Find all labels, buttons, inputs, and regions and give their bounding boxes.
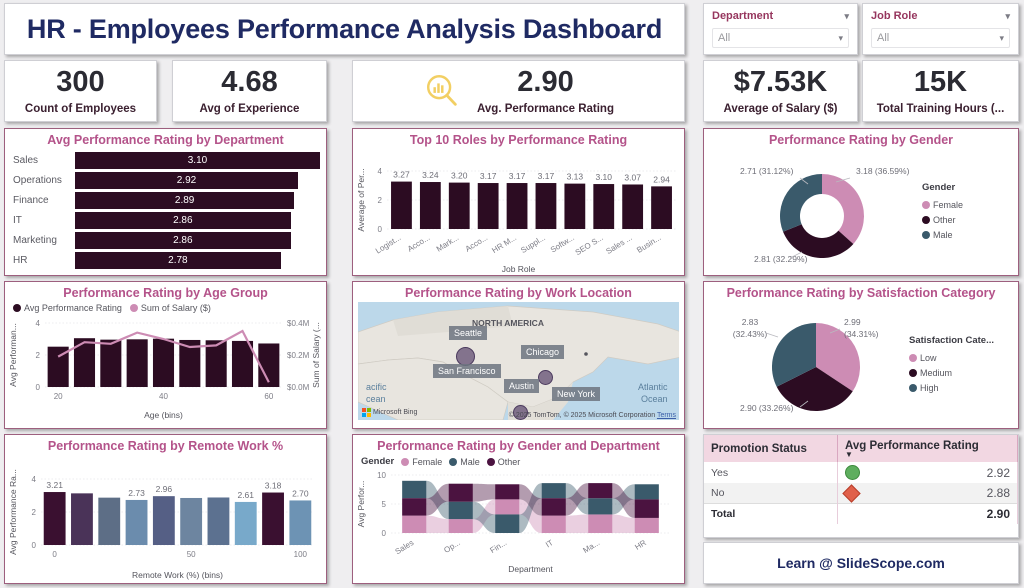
table-header-row: Promotion Status Avg Performance Rating …	[704, 435, 1018, 462]
legend-label: Medium	[920, 368, 952, 378]
remote-bar[interactable]	[153, 496, 175, 545]
role-bar[interactable]	[593, 184, 614, 229]
legend-item-male[interactable]: Male	[449, 457, 480, 467]
legend-label: Male	[460, 457, 480, 467]
slicer-job-role[interactable]: Job Role ▾ All ▾	[862, 3, 1019, 55]
donut-slice-male[interactable]	[780, 174, 822, 232]
y2-tick-label: $0.4M	[287, 319, 310, 328]
legend-label: Other	[933, 215, 956, 225]
legend-swatch-icon	[922, 216, 930, 224]
x-tick-label: HR M...	[490, 233, 518, 255]
remote-bar[interactable]	[98, 498, 120, 545]
cell-promotion-status: Yes	[704, 462, 837, 483]
bar-value-label: 2.61	[237, 490, 254, 500]
legend-title: Gender	[361, 456, 394, 467]
x-tick-label: Sales ...	[604, 233, 633, 256]
ribbon-segment[interactable]	[588, 483, 612, 498]
ribbon-chart: 0510SalesOp...Fin...ITMa...HRDepartmentA…	[353, 467, 684, 575]
kpi-value: $7.53K	[734, 67, 828, 97]
ribbon-segment[interactable]	[402, 481, 426, 498]
footer-banner[interactable]: Learn @ SlideScope.com	[703, 542, 1019, 584]
y-tick-label: 0	[36, 383, 41, 392]
chevron-down-icon[interactable]: ▾	[844, 11, 849, 22]
map-ocean-label-atlantic: Atlantic	[638, 382, 668, 392]
department-bar[interactable]: 2.92	[75, 172, 298, 189]
bar-value-label: 3.21	[46, 480, 63, 490]
y-axis-title: Avg Perfor...	[356, 481, 366, 528]
x-tick-label: IT	[544, 538, 555, 549]
ribbon-band	[473, 484, 495, 502]
remote-bar[interactable]	[71, 493, 93, 545]
promotion-status-table: Promotion Status Avg Performance Rating …	[704, 435, 1018, 524]
column-header-text: Avg Performance Rating	[845, 440, 979, 452]
y-tick-label: 4	[36, 319, 41, 328]
remote-bar[interactable]	[235, 502, 257, 545]
y2-tick-label: $0.0M	[287, 383, 310, 392]
ribbon-segment[interactable]	[449, 502, 473, 519]
department-value: 2.86	[173, 215, 192, 226]
chart-title: Performance Rating by Work Location	[353, 282, 684, 302]
chart-avg-performance-by-department[interactable]: Avg Performance Rating by Department Sal…	[4, 128, 327, 276]
role-bar[interactable]	[478, 183, 499, 229]
map-basemap: NORTH AMERICA acific cean Atlantic Ocean	[358, 302, 679, 420]
department-bar-row[interactable]: Finance2.89	[9, 191, 322, 210]
department-bar-row[interactable]: Sales3.10	[9, 151, 322, 170]
y-tick-label: 0	[382, 529, 387, 538]
department-bar[interactable]: 2.78	[75, 252, 281, 269]
bar-value-label: 3.18	[265, 481, 282, 491]
bar-value-label: 2.73	[128, 488, 145, 498]
bar-value-label: 2.70	[292, 488, 309, 498]
x-tick-label: SEO S...	[574, 233, 605, 257]
cell-avg-performance-rating: 2.92	[837, 462, 1017, 483]
chart-title: Performance Rating by Gender and Departm…	[353, 435, 684, 455]
bar-value-label: 3.24	[422, 170, 439, 180]
department-name: IT	[9, 215, 75, 226]
ribbon-segment[interactable]	[588, 514, 612, 533]
kpi-value: 300	[56, 67, 104, 97]
legend-item-female[interactable]: Female	[922, 200, 963, 210]
table-row[interactable]: Yes2.92	[704, 462, 1018, 483]
department-name: Marketing	[9, 235, 75, 246]
legend-item-avg-performance[interactable]: Avg Performance Rating	[13, 303, 122, 313]
ribbon-segment[interactable]	[495, 499, 519, 514]
pie-value-label: 2.90 (33.26%)	[740, 403, 794, 413]
kpi-card-count-employees[interactable]: 300 Count of Employees	[4, 60, 157, 122]
legend-swatch-icon	[449, 458, 457, 466]
bar-value-label: 3.20	[451, 171, 468, 181]
map-attribution: © 2025 TomTom, © 2025 Microsoft Corporat…	[509, 412, 676, 419]
y-tick-label: 5	[382, 500, 387, 509]
kpi-value: 2.90	[517, 67, 573, 97]
x-tick-label: Logist...	[374, 233, 403, 255]
map-terms-link[interactable]: Terms	[657, 412, 676, 419]
role-bar[interactable]	[420, 182, 441, 229]
cell-avg-performance-rating: 2.88	[837, 483, 1017, 504]
chart-title: Performance Rating by Age Group	[5, 282, 326, 302]
map-label-austin[interactable]: Austin	[504, 379, 539, 393]
pie-value-label: 2.83	[742, 317, 759, 327]
department-name: Finance	[9, 195, 75, 206]
y-tick-label: 2	[378, 196, 383, 205]
chart-title: Performance Rating by Satisfaction Categ…	[704, 282, 1018, 302]
circle-green-icon	[845, 465, 860, 480]
pie-value-label: 2.99	[844, 317, 861, 327]
department-bar[interactable]: 2.89	[75, 192, 294, 209]
x-axis-title: Age (bins)	[144, 410, 183, 420]
role-bar[interactable]	[449, 183, 470, 229]
department-name: HR	[9, 255, 75, 266]
slicer-department-label: Department	[712, 10, 773, 22]
legend-swatch-icon	[909, 369, 917, 377]
remote-bar[interactable]	[180, 498, 202, 545]
department-bar-row[interactable]: IT2.86	[9, 211, 322, 230]
legend-item-other[interactable]: Other	[487, 457, 521, 467]
chart-title: Avg Performance Rating by Department	[5, 129, 326, 149]
map-ocean-label-pacific: acific	[366, 382, 387, 392]
ribbon-segment[interactable]	[402, 498, 426, 515]
map-ocean-label-pacific2: cean	[366, 394, 386, 404]
x-tick-label: 60	[264, 392, 273, 401]
remote-bar[interactable]	[126, 500, 148, 545]
bar-value-label: 3.17	[538, 171, 555, 181]
chevron-down-icon[interactable]: ▾	[999, 33, 1004, 44]
ribbon-segment[interactable]	[635, 484, 659, 499]
legend-swatch-icon	[130, 304, 138, 312]
table-row[interactable]: No2.88	[704, 483, 1018, 504]
age-bar[interactable]	[206, 340, 227, 387]
sort-descending-icon[interactable]: ▼	[845, 452, 1010, 457]
kpi-label: Avg of Experience	[200, 103, 300, 115]
x-tick-label: Suppl...	[519, 233, 547, 255]
diamond-red-icon	[842, 484, 860, 502]
remote-bar[interactable]	[208, 497, 230, 545]
map-ocean-label-atlantic2: Ocean	[641, 394, 668, 404]
map-label-chicago[interactable]: Chicago	[521, 345, 564, 359]
y-axis-title: Avg Performan...	[8, 323, 18, 387]
legend-label: Other	[498, 457, 521, 467]
legend-swatch-icon	[922, 201, 930, 209]
legend-item-medium[interactable]: Medium	[909, 368, 994, 378]
legend-label: Avg Performance Rating	[24, 303, 122, 313]
ribbon-segment[interactable]	[635, 499, 659, 518]
chart-performance-by-remote-work[interactable]: Performance Rating by Remote Work % 0243…	[4, 434, 327, 584]
bing-logo-icon	[362, 408, 371, 417]
kpi-card-average-salary[interactable]: $7.53K Average of Salary ($)	[703, 60, 858, 122]
y-tick-label: 4	[378, 167, 383, 176]
map-label-seattle[interactable]: Seattle	[449, 326, 487, 340]
cell-promotion-status: No	[704, 483, 837, 504]
x-axis-title: Job Role	[502, 264, 536, 274]
map-pin-chicago[interactable]	[538, 370, 553, 385]
y-axis-title: Avg Performance Ra...	[8, 469, 18, 555]
slicer-job-role-label: Job Role	[871, 10, 917, 22]
kpi-card-total-training-hours[interactable]: 15K Total Training Hours (...	[862, 60, 1019, 122]
ribbon-segment[interactable]	[449, 519, 473, 533]
page-title: HR - Employees Performance Analysis Dash…	[5, 4, 684, 54]
footer-text: Learn @ SlideScope.com	[704, 543, 1018, 583]
ribbon-segment[interactable]	[449, 484, 473, 502]
x-tick-label: Op...	[442, 538, 461, 555]
legend-item-low[interactable]: Low	[909, 353, 994, 363]
role-bar[interactable]	[564, 184, 585, 229]
satisfaction-legend: Satisfaction Cate... Low Medium High	[909, 335, 994, 393]
department-value: 2.89	[175, 195, 194, 206]
chevron-down-icon[interactable]: ▾	[1005, 11, 1010, 22]
x-tick-label: Mark...	[435, 233, 461, 254]
legend-item-other[interactable]: Other	[922, 215, 963, 225]
map-canvas[interactable]: NORTH AMERICA acific cean Atlantic Ocean…	[358, 302, 679, 420]
role-bar[interactable]	[651, 186, 672, 229]
remote-bar[interactable]	[262, 493, 284, 545]
age-combo-chart: 0$0.0M2$0.2M4$0.4M204060Age (bins)Avg Pe…	[5, 313, 326, 421]
department-bar[interactable]: 3.10	[75, 152, 320, 169]
kpi-value: 4.68	[221, 67, 277, 97]
bar-value-label: 3.17	[480, 171, 497, 181]
role-bar[interactable]	[507, 183, 528, 229]
map-label-san-francisco[interactable]: San Francisco	[433, 364, 501, 378]
y-axis-title: Average of Per...	[356, 168, 366, 231]
legend-label: Male	[933, 230, 953, 240]
y-tick-label: 2	[36, 351, 41, 360]
ribbon-segment[interactable]	[542, 483, 566, 498]
kpi-label: Avg. Performance Rating	[477, 103, 614, 115]
satisfaction-pie-chart: 2.99(34.31%)2.90 (33.26%)2.83(32.43%)	[704, 303, 909, 425]
legend-title: Satisfaction Cate...	[909, 335, 994, 346]
column-header-avg-performance-rating[interactable]: Avg Performance Rating ▼	[837, 435, 1017, 462]
donut-value-label: 2.81 (32.29%)	[754, 254, 808, 264]
chart-title: Performance Rating by Remote Work %	[5, 435, 326, 455]
map-attribution-text: © 2025 TomTom, © 2025 Microsoft Corporat…	[509, 412, 655, 419]
ribbon-segment[interactable]	[402, 516, 426, 533]
legend-label: High	[920, 383, 939, 393]
table-body: Yes2.92No2.88Total2.90	[704, 462, 1018, 524]
bar-value-label: 3.13	[567, 172, 584, 182]
y2-tick-label: $0.2M	[287, 351, 310, 360]
chart-performance-by-gender[interactable]: Performance Rating by Gender 3.18 (36.59…	[703, 128, 1019, 276]
x-tick-label: Acco...	[464, 233, 490, 254]
slicer-job-role-header: Job Role ▾	[871, 10, 1010, 25]
slicer-job-role-value: All	[877, 32, 889, 44]
y-tick-label: 10	[377, 471, 386, 480]
ribbon-segment[interactable]	[542, 516, 566, 533]
legend-item-high[interactable]: High	[909, 383, 994, 393]
chart-title: Performance Rating by Gender	[704, 129, 1018, 149]
department-value: 2.92	[177, 175, 196, 186]
ribbon-band	[566, 514, 588, 533]
slicer-department[interactable]: Department ▾ All ▾	[703, 3, 858, 55]
ribbon-segment[interactable]	[495, 484, 519, 499]
x-tick-label: 0	[52, 550, 57, 559]
bar-value-label: 3.07	[624, 172, 641, 182]
slicer-department-dropdown[interactable]: All ▾	[712, 28, 849, 48]
cell-total-label: Total	[704, 504, 837, 525]
legend-swatch-icon	[909, 384, 917, 392]
bar-value-label: 2.94	[653, 174, 670, 184]
kpi-label: Total Training Hours (...	[877, 103, 1005, 115]
department-bar-row[interactable]: Operations2.92	[9, 171, 322, 190]
legend-title: Gender	[922, 182, 963, 193]
x-tick-label: Sales	[394, 538, 416, 556]
chart-performance-by-work-location[interactable]: Performance Rating by Work Location NORT…	[352, 281, 685, 429]
dashboard-root: HR - Employees Performance Analysis Dash…	[0, 0, 1024, 588]
chart-performance-by-age-group[interactable]: Performance Rating by Age Group Avg Perf…	[4, 281, 327, 429]
map-provider-logo: Microsoft Bing	[362, 408, 417, 417]
chart-performance-by-gender-and-department[interactable]: Performance Rating by Gender and Departm…	[352, 434, 685, 584]
roles-bar-chart: 0243.27Logist...3.24Acco...3.20Mark...3.…	[353, 149, 684, 275]
legend-swatch-icon	[13, 304, 21, 312]
x-tick-label: 20	[54, 392, 63, 401]
role-bar[interactable]	[536, 183, 557, 229]
y2-axis-title: Sum of Salary (...	[311, 322, 321, 388]
kpi-value: 15K	[914, 67, 967, 97]
x-tick-label: Softw...	[549, 233, 576, 255]
department-name: Sales	[9, 155, 75, 166]
x-tick-label: Acco...	[406, 233, 432, 254]
legend-item-female[interactable]: Female	[401, 457, 442, 467]
y-tick-label: 0	[378, 225, 383, 234]
kpi-card-avg-experience[interactable]: 4.68 Avg of Experience	[172, 60, 327, 122]
chart-performance-by-satisfaction-category[interactable]: Performance Rating by Satisfaction Categ…	[703, 281, 1019, 429]
department-value: 3.10	[188, 155, 207, 166]
pie-percent-label: (34.31%)	[844, 329, 879, 339]
kpi-label: Count of Employees	[25, 103, 136, 115]
y-tick-label: 2	[32, 508, 37, 517]
donut-value-label: 2.71 (31.12%)	[740, 166, 794, 176]
cell-value: 2.92	[987, 466, 1010, 480]
x-tick-label: Ma...	[581, 538, 601, 555]
page-title-panel: HR - Employees Performance Analysis Dash…	[4, 3, 685, 55]
department-bar[interactable]: 2.86	[75, 232, 291, 249]
slicer-job-role-dropdown[interactable]: All ▾	[871, 28, 1010, 48]
department-bar-row[interactable]: HR2.78	[9, 251, 322, 270]
cell-total-value: 2.90	[837, 504, 1017, 525]
magnifier-chart-icon	[423, 72, 461, 110]
table-total-row: Total2.90	[704, 504, 1018, 525]
x-tick-label: Busin...	[635, 233, 662, 255]
department-bar[interactable]: 2.86	[75, 212, 291, 229]
department-bar-row[interactable]: Marketing2.86	[9, 231, 322, 250]
x-tick-label: HR	[633, 538, 648, 552]
donut-slice-female[interactable]	[822, 174, 864, 244]
kpi-card-avg-performance-rating[interactable]: 2.90 Avg. Performance Rating	[352, 60, 685, 122]
remote-bar-chart: 0243.212.732.962.613.182.70050100Remote …	[5, 455, 326, 583]
legend-item-sum-salary[interactable]: Sum of Salary ($)	[130, 303, 211, 313]
ribbon-segment[interactable]	[542, 498, 566, 515]
x-tick-label: 40	[159, 392, 168, 401]
ribbon-segment[interactable]	[495, 514, 519, 533]
remote-bar[interactable]	[289, 500, 311, 545]
remote-bar[interactable]	[44, 492, 66, 545]
pie-percent-label: (32.43%)	[733, 329, 768, 339]
bar-value-label: 3.10	[595, 172, 612, 182]
department-bar-list: Sales3.10Operations2.92Finance2.89IT2.86…	[5, 149, 326, 275]
gender-donut-chart: 3.18 (36.59%)2.81 (32.29%)2.71 (31.12%)	[704, 150, 922, 272]
gender-legend: Gender Female Other Male	[922, 182, 963, 240]
age-bar[interactable]	[232, 341, 253, 387]
chevron-down-icon[interactable]: ▾	[838, 33, 843, 44]
map-provider-label: Microsoft Bing	[373, 409, 417, 416]
legend-label: Female	[933, 200, 963, 210]
age-bar[interactable]	[100, 340, 121, 387]
legend-swatch-icon	[487, 458, 495, 466]
chart-top-10-roles-by-performance[interactable]: Top 10 Roles by Performance Rating 0243.…	[352, 128, 685, 276]
age-bar[interactable]	[127, 339, 148, 387]
chart-title: Top 10 Roles by Performance Rating	[353, 129, 684, 149]
bar-value-label: 3.27	[393, 170, 410, 180]
x-tick-label: 50	[187, 550, 196, 559]
legend-label: Low	[920, 353, 937, 363]
ribbon-segment[interactable]	[588, 498, 612, 514]
x-tick-label: 100	[294, 550, 308, 559]
slicer-department-value: All	[718, 32, 730, 44]
bar-value-label: 3.17	[509, 171, 526, 181]
legend-swatch-icon	[401, 458, 409, 466]
legend-swatch-icon	[922, 231, 930, 239]
department-value: 2.86	[173, 235, 192, 246]
column-header-promotion-status[interactable]: Promotion Status	[704, 435, 837, 462]
x-axis-title: Department	[508, 564, 553, 574]
legend-item-male[interactable]: Male	[922, 230, 963, 240]
kpi-label: Average of Salary ($)	[724, 103, 838, 115]
kpi-text-block: 2.90 Avg. Performance Rating	[477, 67, 614, 114]
legend-label: Female	[412, 457, 442, 467]
ribbon-segment[interactable]	[635, 518, 659, 533]
role-bar[interactable]	[391, 182, 412, 229]
donut-value-label: 3.18 (36.59%)	[856, 166, 910, 176]
legend-label: Sum of Salary ($)	[141, 303, 211, 313]
y-tick-label: 4	[32, 475, 37, 484]
age-bar[interactable]	[153, 339, 174, 387]
x-tick-label: Fin...	[488, 538, 508, 555]
y-tick-label: 0	[32, 541, 37, 550]
department-value: 2.78	[168, 255, 187, 266]
role-bar[interactable]	[622, 184, 643, 229]
cell-value: 2.88	[987, 486, 1010, 500]
bar-value-label: 2.96	[156, 484, 173, 494]
table-promotion-status[interactable]: Promotion Status Avg Performance Rating …	[703, 434, 1019, 538]
slicer-department-header: Department ▾	[712, 10, 849, 25]
legend-swatch-icon	[909, 354, 917, 362]
map-label-new-york[interactable]: New York	[552, 387, 600, 401]
x-axis-title: Remote Work (%) (bins)	[132, 570, 223, 580]
department-name: Operations	[9, 175, 75, 186]
